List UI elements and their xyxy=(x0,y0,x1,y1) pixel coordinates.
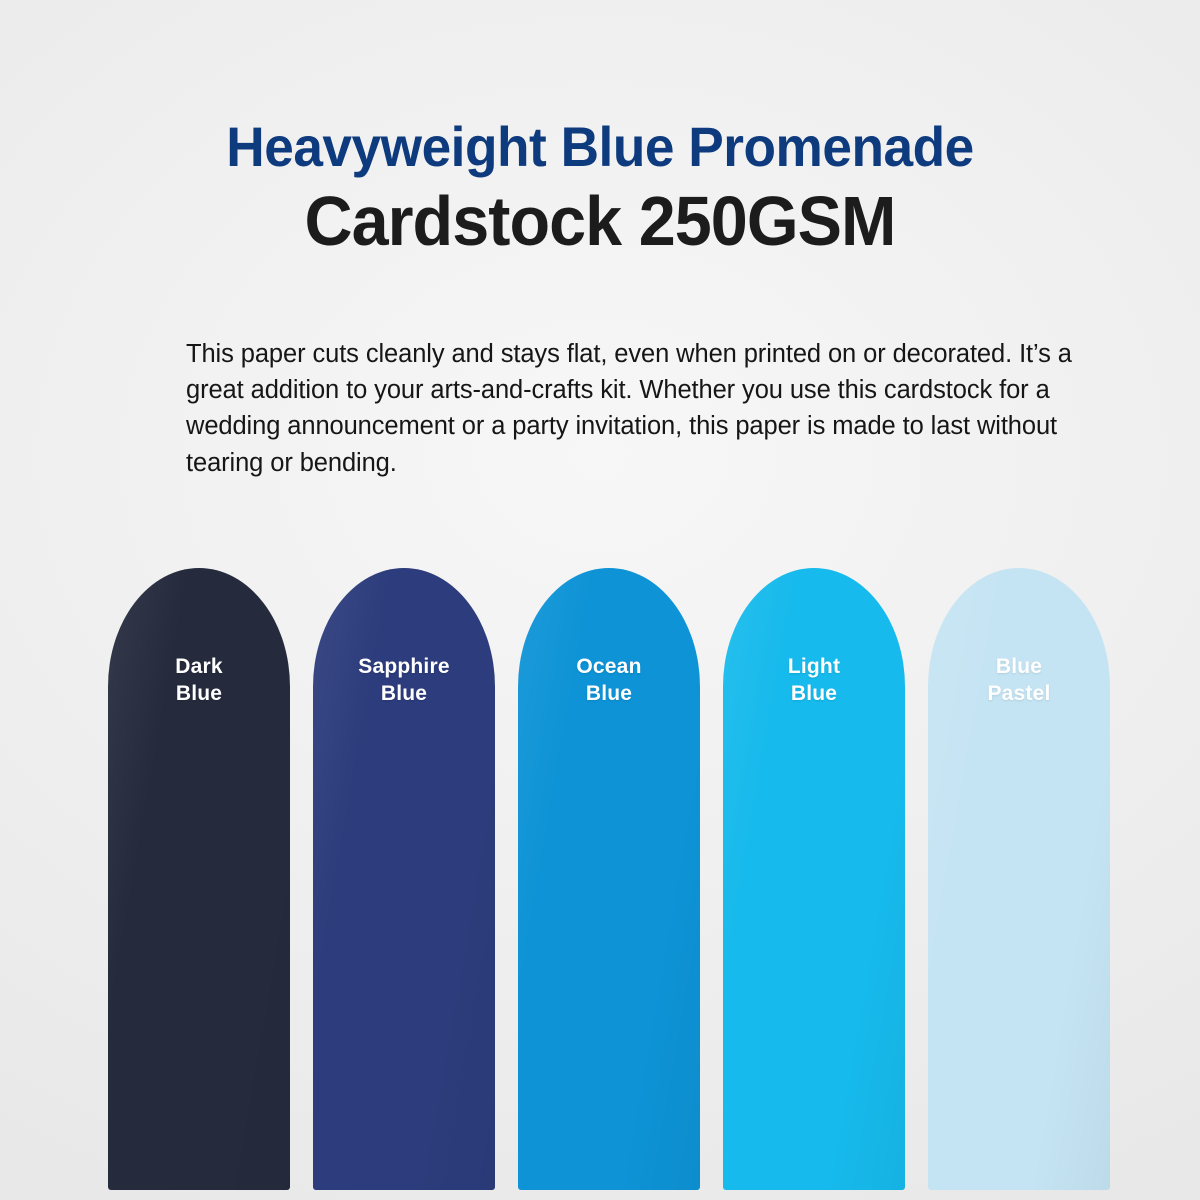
color-swatch-row: Dark Blue Sapphire Blue Ocean Blue Light… xyxy=(108,568,1110,1190)
swatch-label-light-blue: Light Blue xyxy=(723,654,905,708)
swatch-label-blue-pastel: Blue Pastel xyxy=(928,654,1110,708)
swatch-label-line2: Blue xyxy=(108,681,290,708)
color-swatch-dark-blue[interactable]: Dark Blue xyxy=(108,568,290,1190)
product-headline-secondary: Cardstock 250GSM xyxy=(30,185,1170,258)
color-swatch-light-blue[interactable]: Light Blue xyxy=(723,568,905,1190)
swatch-label-line1: Ocean xyxy=(576,655,641,678)
color-swatch-sapphire-blue[interactable]: Sapphire Blue xyxy=(313,568,495,1190)
swatch-label-line1: Blue xyxy=(996,655,1042,678)
product-infographic: Heavyweight Blue Promenade Cardstock 250… xyxy=(0,0,1200,1200)
product-headline-primary: Heavyweight Blue Promenade xyxy=(30,118,1170,175)
swatch-label-line2: Blue xyxy=(313,681,495,708)
swatch-label-sapphire-blue: Sapphire Blue xyxy=(313,654,495,708)
swatch-label-line1: Sapphire xyxy=(358,655,449,678)
swatch-label-dark-blue: Dark Blue xyxy=(108,654,290,708)
color-swatch-blue-pastel[interactable]: Blue Pastel xyxy=(928,568,1110,1190)
swatch-label-line1: Dark xyxy=(175,655,223,678)
product-description: This paper cuts cleanly and stays flat, … xyxy=(186,336,1114,481)
swatch-label-ocean-blue: Ocean Blue xyxy=(518,654,700,708)
swatch-label-line2: Blue xyxy=(518,681,700,708)
color-swatch-ocean-blue[interactable]: Ocean Blue xyxy=(518,568,700,1190)
swatch-label-line2: Blue xyxy=(723,681,905,708)
headline-block: Heavyweight Blue Promenade Cardstock 250… xyxy=(0,118,1200,258)
swatch-label-line1: Light xyxy=(788,655,840,678)
swatch-label-line2: Pastel xyxy=(928,681,1110,708)
